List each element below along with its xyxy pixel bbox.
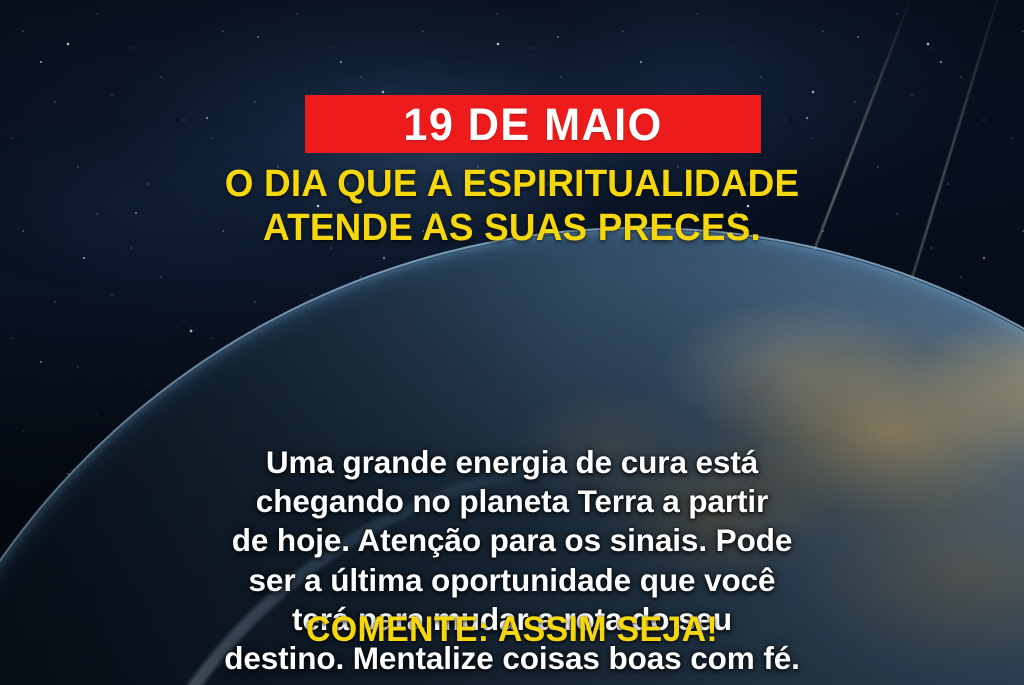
body-line-4: ser a última oportunidade que você xyxy=(249,562,776,598)
call-to-action-text: COMENTE: ASSIM SEJA! xyxy=(306,610,718,649)
headline-line-2: ATENDE AS SUAS PRECES. xyxy=(15,206,1008,250)
headline-line-1: O DIA QUE A ESPIRITUALIDADE xyxy=(15,162,1008,206)
poster-content: 19 DE MAIO O DIA QUE A ESPIRITUALIDADE A… xyxy=(0,0,1024,685)
body-line-3: de hoje. Atenção para os sinais. Pode xyxy=(232,522,793,558)
body-line-1: Uma grande energia de cura está xyxy=(266,444,758,480)
date-banner-text: 19 DE MAIO xyxy=(403,102,662,147)
body-line-2: chegando no planeta Terra a partir xyxy=(256,483,768,519)
date-banner: 19 DE MAIO xyxy=(305,95,761,153)
call-to-action: COMENTE: ASSIM SEJA! xyxy=(15,612,1008,647)
social-media-poster: 19 DE MAIO O DIA QUE A ESPIRITUALIDADE A… xyxy=(0,0,1024,685)
headline: O DIA QUE A ESPIRITUALIDADE ATENDE AS SU… xyxy=(15,162,1008,251)
